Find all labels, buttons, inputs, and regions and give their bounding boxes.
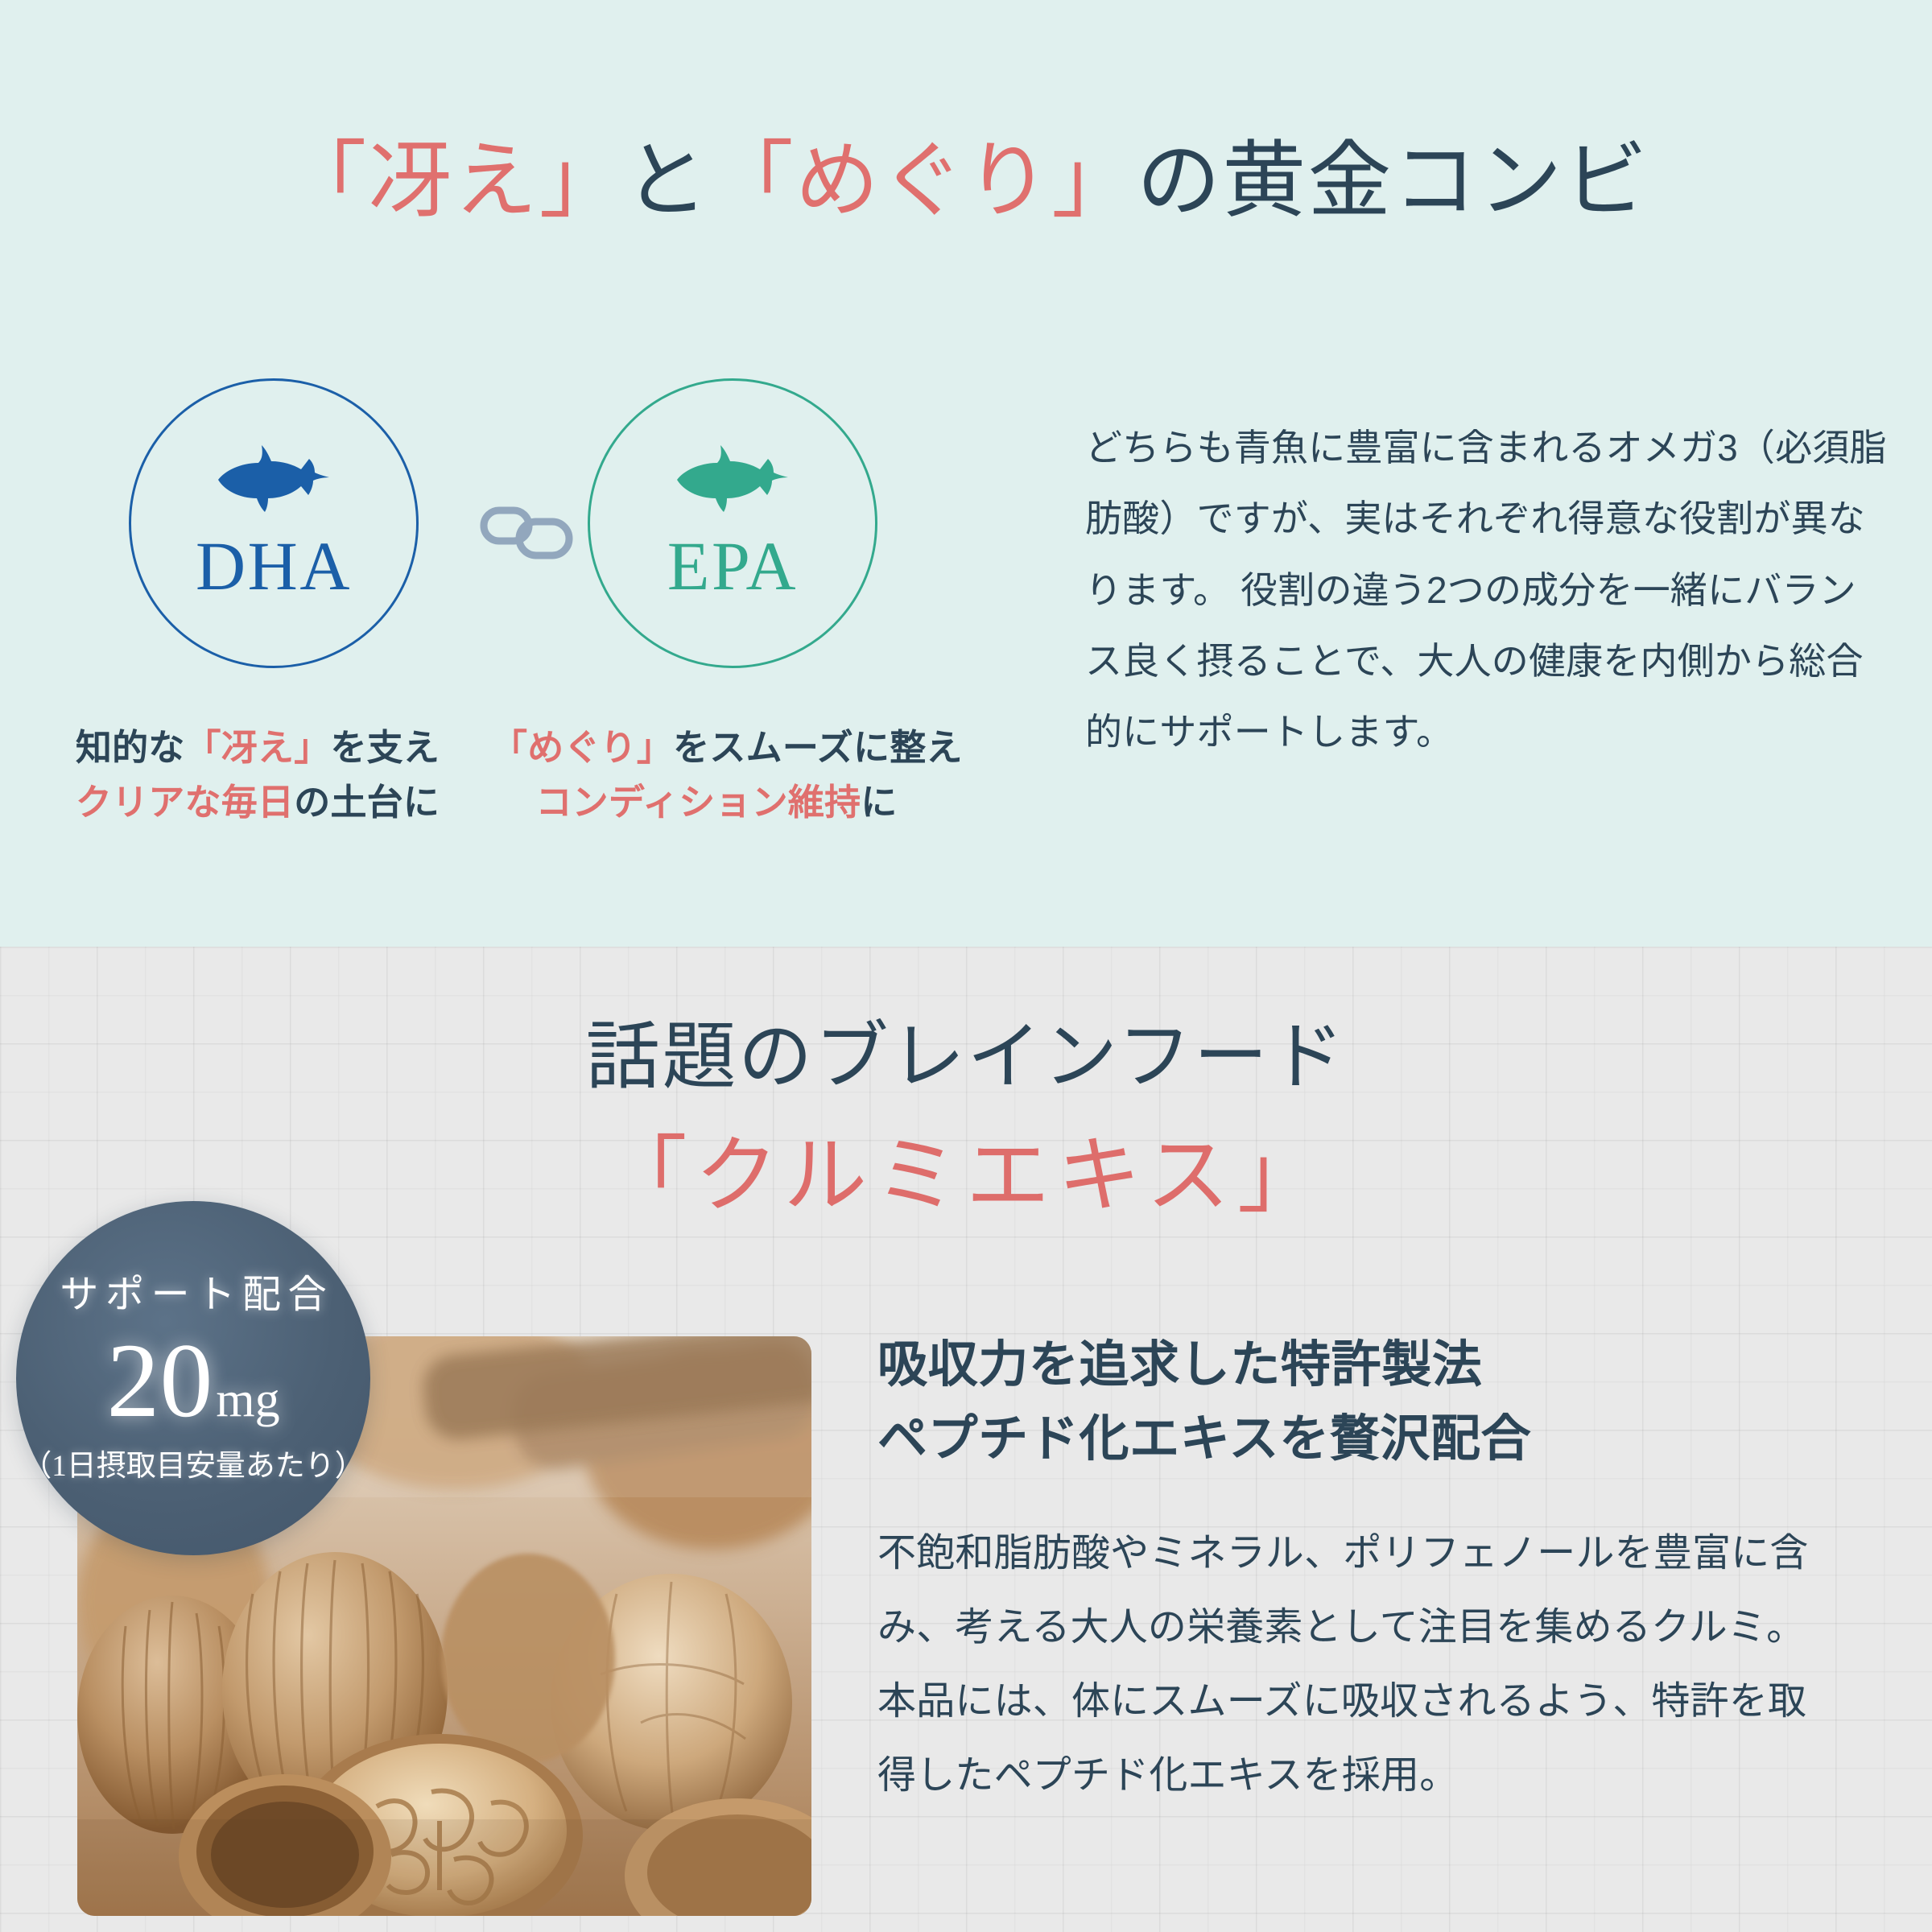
fish-icon <box>672 440 793 518</box>
ingredient-circles: DHA EPA <box>113 378 1014 716</box>
section2-heading-main: 「クルミエキス」 <box>0 1127 1932 1228</box>
badge-label: サポート配合 <box>60 1276 333 1315</box>
section1-title: 「冴え」と「めぐり」の黄金コンビ <box>0 133 1932 232</box>
section2-body: 不飽和脂肪酸やミネラル、ポリフェノールを豊富に含み、考える大人の栄養素として注目… <box>877 1517 1827 1814</box>
circle-epa-label: EPA <box>667 531 798 601</box>
section-dha-epa: 「冴え」と「めぐり」の黄金コンビ DHA <box>0 0 1932 947</box>
circle-dha-label: DHA <box>196 531 352 601</box>
badge-note: （1日摂取目安量あたり） <box>22 1451 365 1481</box>
circle-dha: DHA <box>129 378 419 668</box>
title-tail: の黄金コンビ <box>1137 135 1649 228</box>
dosage-badge: サポート配合 20mg （1日摂取目安量あたり） <box>16 1201 370 1555</box>
chain-link-icon <box>479 499 576 563</box>
fish-icon <box>213 440 334 518</box>
caption-dha: 知的な「冴え」を支え クリアな毎日の土台に <box>32 720 483 829</box>
section2-subheading-line1: 吸収力を追求した特許製法 <box>877 1328 1884 1402</box>
caption-epa: 「めぐり」をスムーズに整え コンディション維持に <box>491 720 942 829</box>
title-to: と <box>625 135 710 228</box>
caption-dha-line2: クリアな毎日の土台に <box>32 775 483 830</box>
badge-amount: 20 <box>106 1327 213 1434</box>
caption-epa-line2: コンディション維持に <box>491 775 942 830</box>
product-landing-page: 「冴え」と「めぐり」の黄金コンビ DHA <box>0 0 1932 1932</box>
section2-subheading: 吸収力を追求した特許製法 ペプチド化エキスを贅沢配合 <box>877 1328 1884 1476</box>
section2-heading-top: 話題のブレインフード <box>0 1013 1932 1101</box>
section2-subheading-line2: ペプチド化エキスを贅沢配合 <box>877 1402 1884 1476</box>
section1-paragraph: どちらも青魚に豊富に含まれるオメガ3（必須脂肪酸）ですが、実はそれぞれ得意な役割… <box>1085 412 1890 768</box>
badge-unit: mg <box>216 1375 279 1425</box>
caption-dha-line1: 知的な「冴え」を支え <box>32 720 483 775</box>
badge-amount-row: 20mg <box>106 1327 279 1434</box>
title-sae: 「冴え」 <box>283 135 624 228</box>
caption-epa-line1: 「めぐり」をスムーズに整え <box>491 720 942 775</box>
circle-epa: EPA <box>588 378 877 668</box>
title-meguri: 「めぐり」 <box>710 135 1137 228</box>
